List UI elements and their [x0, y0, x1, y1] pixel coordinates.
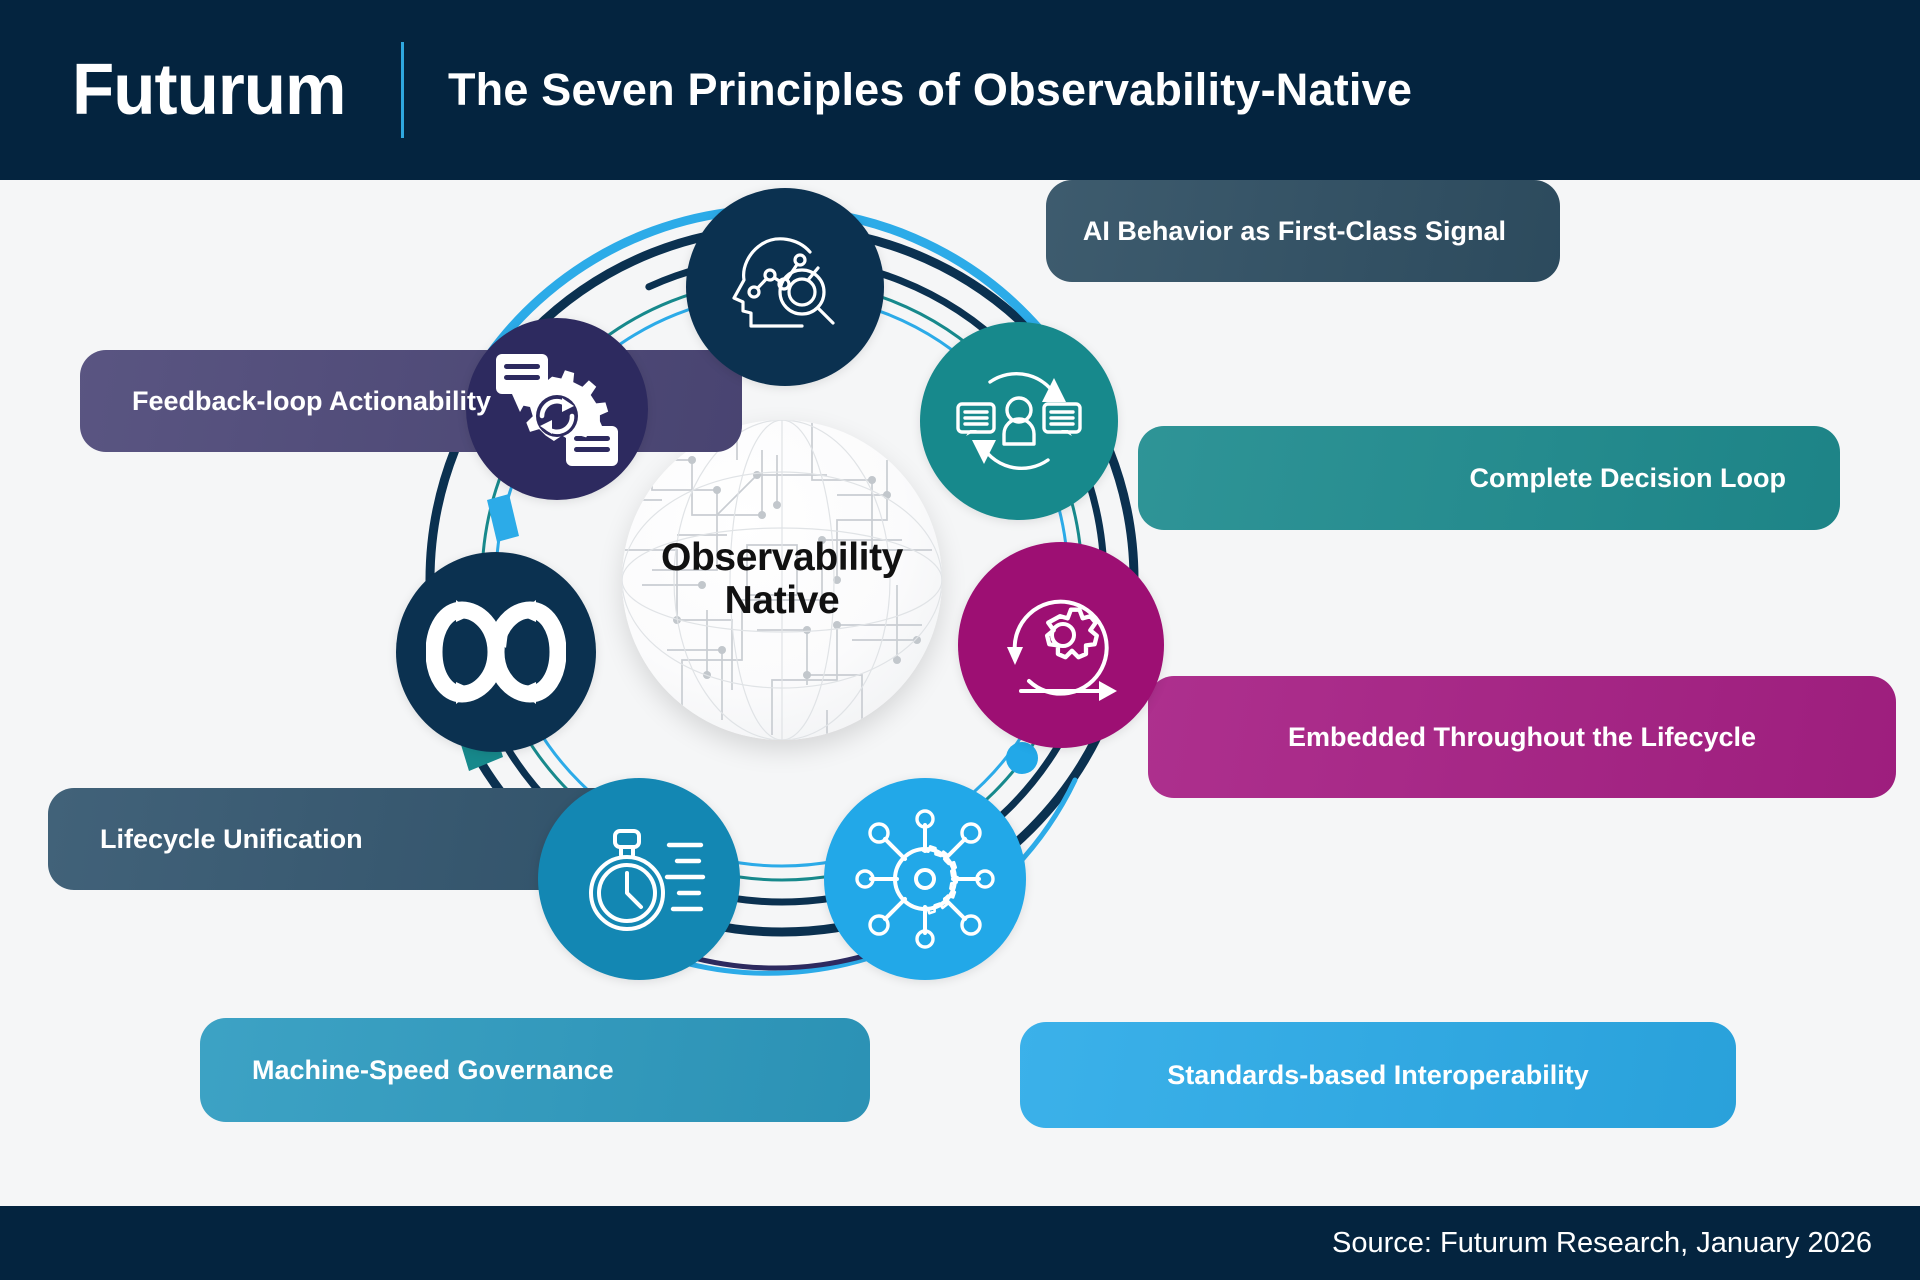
page-header: Futurum The Seven Principles of Observab… — [0, 0, 1920, 180]
label-machine-speed-governance[interactable]: Machine-Speed Governance — [200, 1018, 870, 1122]
label-embedded-lifecycle-text: Embedded Throughout the Lifecycle — [1288, 721, 1756, 754]
stopwatch-icon — [569, 809, 709, 949]
node-embedded-lifecycle[interactable] — [958, 542, 1164, 748]
decision-loop-person-icon — [950, 352, 1088, 490]
node-ai-behavior[interactable] — [686, 188, 884, 386]
label-embedded-lifecycle[interactable]: Embedded Throughout the Lifecycle — [1148, 676, 1896, 798]
connector-dot — [1006, 742, 1038, 774]
gear-arrow-cycle-icon — [991, 575, 1131, 715]
label-standards-interoperability[interactable]: Standards-based Interoperability — [1020, 1022, 1736, 1128]
label-machine-speed-governance-text: Machine-Speed Governance — [252, 1054, 614, 1087]
center-label-line1: Observability — [661, 537, 903, 580]
futurum-logo: Futurum — [72, 54, 346, 126]
center-sphere: Observability Native — [622, 420, 942, 740]
page-title: The Seven Principles of Observability-Na… — [448, 64, 1412, 116]
network-gear-hub-icon — [853, 807, 997, 951]
center-label: Observability Native — [661, 537, 903, 623]
node-machine-speed-governance[interactable] — [538, 778, 740, 980]
label-ai-behavior[interactable]: AI Behavior as First-Class Signal — [1046, 180, 1560, 282]
label-complete-decision-loop[interactable]: Complete Decision Loop — [1138, 426, 1840, 530]
center-label-line2: Native — [661, 580, 903, 623]
chat-gear-refresh-icon — [490, 342, 624, 476]
node-feedback-loop-actionability[interactable] — [466, 318, 648, 500]
infinity-loop-icon — [426, 596, 566, 708]
label-lifecycle-unification-text: Lifecycle Unification — [100, 823, 363, 856]
header-divider — [401, 42, 404, 138]
infographic-stage: Observability Native AI Behavior as Firs… — [0, 180, 1920, 1206]
node-lifecycle-unification[interactable] — [396, 552, 596, 752]
label-standards-interoperability-text: Standards-based Interoperability — [1167, 1059, 1589, 1092]
source-attribution: Source: Futurum Research, January 2026 — [1332, 1227, 1872, 1260]
label-ai-behavior-text: AI Behavior as First-Class Signal — [1083, 215, 1506, 248]
ai-head-analytics-icon — [720, 222, 850, 352]
node-standards-interoperability[interactable] — [824, 778, 1026, 980]
label-feedback-loop-actionability-text: Feedback-loop Actionability — [132, 385, 491, 418]
label-complete-decision-loop-text: Complete Decision Loop — [1469, 462, 1786, 495]
page-footer: Source: Futurum Research, January 2026 — [0, 1206, 1920, 1280]
node-complete-decision-loop[interactable] — [920, 322, 1118, 520]
